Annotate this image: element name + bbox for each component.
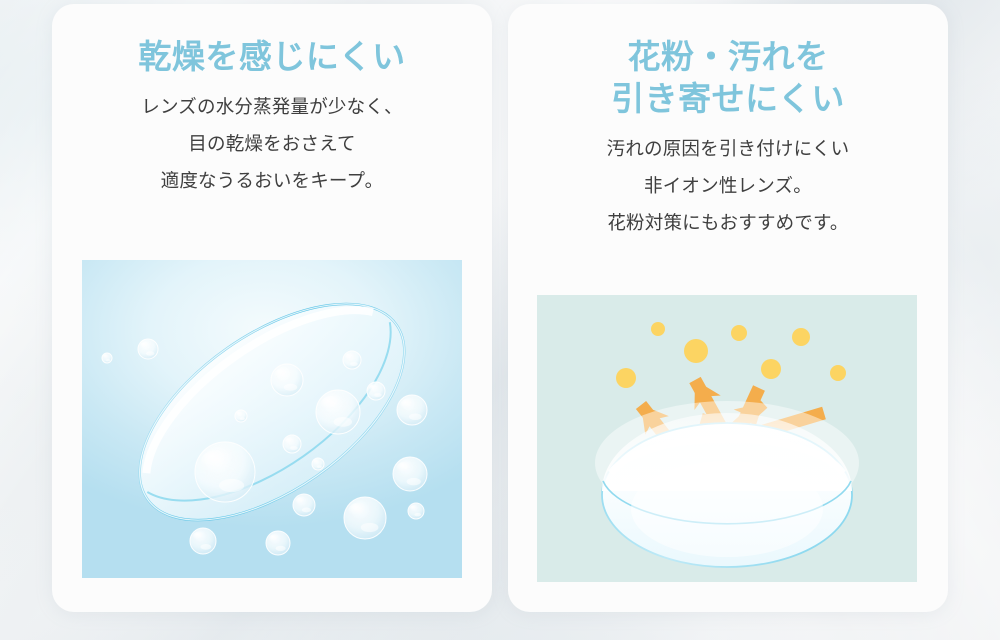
water-droplet (235, 410, 247, 422)
pollen-dot (684, 339, 708, 363)
pollen-dot-group (616, 322, 846, 388)
water-droplet (312, 458, 324, 470)
lens-dome-shape (595, 401, 859, 567)
water-droplet (190, 528, 216, 554)
pollen-dot (616, 368, 636, 388)
water-droplet (367, 382, 385, 400)
pollen-dot (830, 365, 846, 381)
pollen-dot (651, 322, 665, 336)
contact-lens-with-water-droplets-illustration (82, 260, 462, 578)
card-body-pollen: 汚れの原因を引き付けにくい 非イオン性レンズ。 花粉対策にもおすすめです。 (508, 120, 948, 241)
water-droplet (343, 351, 361, 369)
water-droplet (102, 353, 112, 363)
pollen-dot (731, 325, 747, 341)
card-title-pollen: 花粉・汚れを 引き寄せにくい (508, 4, 948, 120)
dryness-figure-svg (82, 260, 462, 578)
promo-page: 乾燥を感じにくい レンズの水分蒸発量が少なく、 目の乾燥をおさえて 適度なうるお… (0, 0, 1000, 640)
water-droplet (393, 457, 427, 491)
card-title-dryness: 乾燥を感じにくい (52, 4, 492, 78)
water-droplet (397, 395, 427, 425)
card-body-dryness: レンズの水分蒸発量が少なく、 目の乾燥をおさえて 適度なうるおいをキープ。 (52, 78, 492, 199)
water-droplet (271, 364, 303, 396)
water-droplet (266, 531, 290, 555)
pollen-dot (761, 359, 781, 379)
water-droplet (316, 390, 360, 434)
water-droplet (344, 497, 386, 539)
pollen-figure-svg (537, 295, 917, 582)
water-droplet (293, 494, 315, 516)
pollen-dot (792, 328, 810, 346)
dome-inner-gloss (631, 461, 823, 557)
contact-lens-shape (103, 261, 442, 563)
water-droplet (195, 442, 255, 502)
feature-card-pollen: 花粉・汚れを 引き寄せにくい 汚れの原因を引き付けにくい 非イオン性レンズ。 花… (508, 4, 948, 612)
water-droplet (138, 339, 158, 359)
water-droplet (283, 435, 301, 453)
water-droplet (408, 503, 424, 519)
lens-outer-ellipse (103, 261, 442, 563)
lens-repelling-pollen-particles-illustration (537, 295, 917, 582)
feature-card-dryness: 乾燥を感じにくい レンズの水分蒸発量が少なく、 目の乾燥をおさえて 適度なうるお… (52, 4, 492, 612)
